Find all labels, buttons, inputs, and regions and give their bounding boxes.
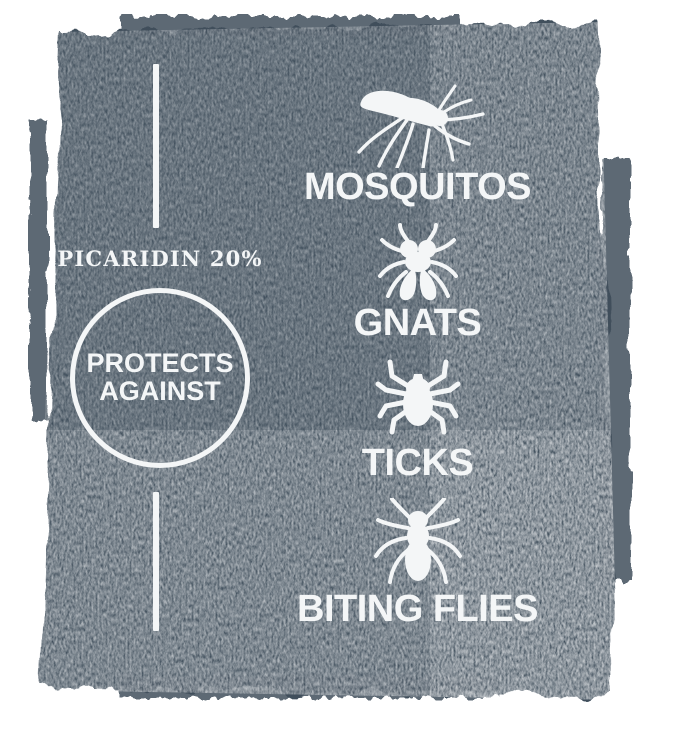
- artwork-layer: PICARIDIN 20% PROTECTS AGAINST: [0, 0, 679, 730]
- mosquito-icon: [343, 80, 493, 168]
- pest-item-biting-flies: BITING FLIES: [290, 498, 545, 631]
- badge-line-1: PROTECTS: [86, 350, 233, 378]
- badge-line-2: AGAINST: [99, 378, 221, 406]
- infographic-canvas: PICARIDIN 20% PROTECTS AGAINST: [0, 0, 679, 730]
- protects-against-badge: PROTECTS AGAINST: [70, 288, 250, 468]
- pest-label-ticks: TICKS: [290, 442, 545, 485]
- biting-fly-icon: [368, 498, 468, 588]
- pest-label-gnats: GNATS: [290, 302, 545, 345]
- tick-icon: [374, 358, 462, 440]
- pest-item-gnats: GNATS: [290, 222, 545, 345]
- pest-label-mosquitos: MOSQUITOS: [290, 166, 545, 209]
- pest-label-biting-flies: BITING FLIES: [290, 588, 545, 631]
- divider-rule-bottom: [153, 492, 159, 631]
- pest-item-mosquitos: MOSQUITOS: [290, 80, 545, 209]
- pest-item-ticks: TICKS: [290, 358, 545, 485]
- gnat-icon: [370, 222, 466, 306]
- active-ingredient-text: PICARIDIN 20%: [50, 246, 270, 271]
- divider-rule-top: [153, 64, 159, 228]
